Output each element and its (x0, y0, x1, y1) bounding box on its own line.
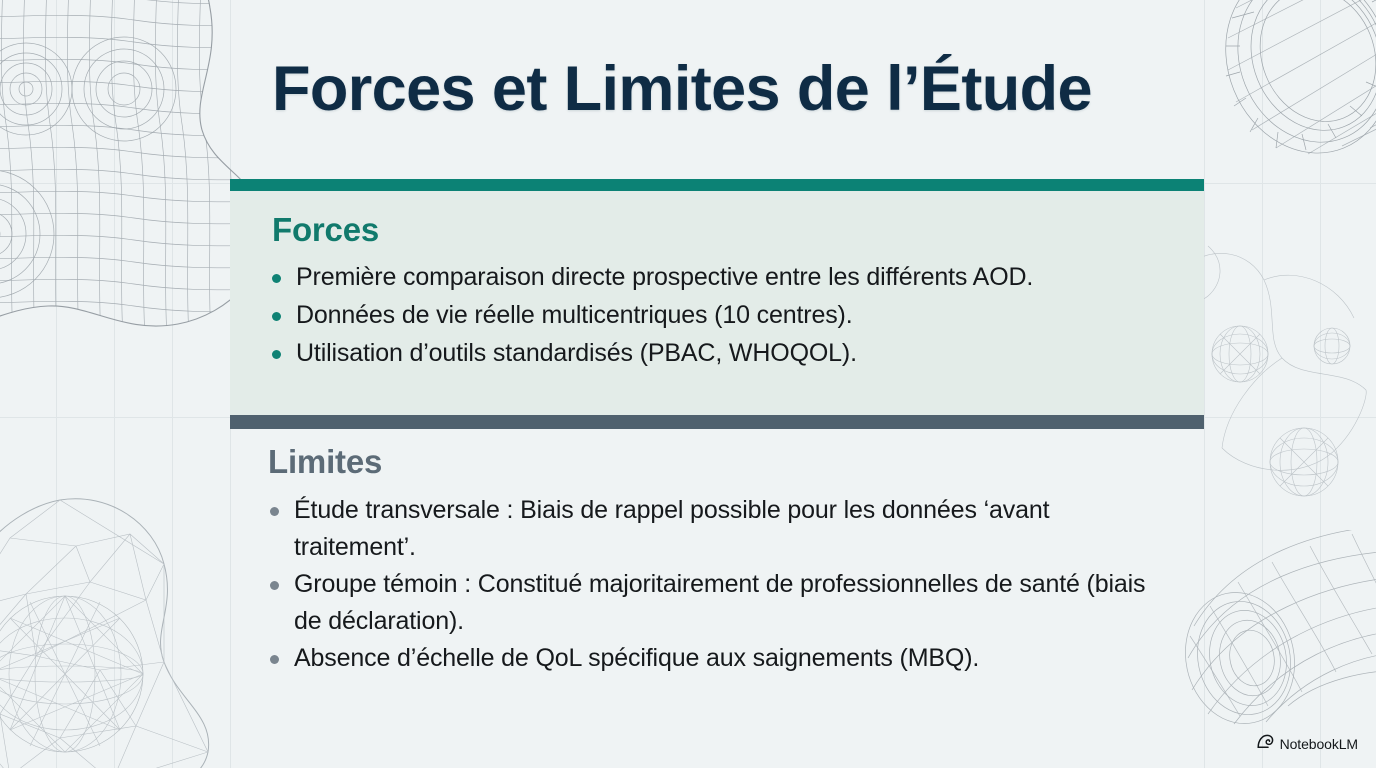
list-item: Données de vie réelle multicentriques (1… (268, 296, 1178, 334)
page-title: Forces et Limites de l’Étude (272, 55, 1092, 123)
wireframe-tube-bottomright-icon (1176, 530, 1376, 768)
forces-bullet-list: Première comparaison directe prospective… (268, 258, 1178, 372)
grid-vline (172, 0, 173, 768)
list-item: Utilisation d’outils standardisés (PBAC,… (268, 334, 1178, 372)
notebooklm-spiral-icon (1257, 734, 1274, 754)
wireframe-mesh-blob-bottomleft-icon (0, 490, 240, 768)
list-item: Groupe témoin : Constitué majoritairemen… (266, 566, 1166, 640)
limites-bullet-list: Étude transversale : Biais de rappel pos… (266, 492, 1166, 677)
grid-vline (114, 0, 115, 768)
limites-accent-bar (230, 415, 1204, 429)
forces-accent-bar (230, 179, 1204, 191)
list-item: Absence d’échelle de QoL spécifique aux … (266, 640, 1166, 677)
list-item: Première comparaison directe prospective… (268, 258, 1178, 296)
wireframe-spheres-midright-icon (1178, 226, 1376, 516)
list-item: Étude transversale : Biais de rappel pos… (266, 492, 1166, 566)
grid-vline (1262, 0, 1263, 768)
limites-heading: Limites (268, 443, 382, 481)
grid-vline (56, 0, 57, 768)
slide-canvas: Forces et Limites de l’Étude Forces Prem… (0, 0, 1376, 768)
grid-vline (1204, 0, 1205, 768)
wireframe-tube-topright-icon (1196, 0, 1376, 200)
notebooklm-logo: NotebookLM (1257, 734, 1358, 754)
forces-heading: Forces (272, 211, 379, 249)
notebooklm-logo-text: NotebookLM (1280, 736, 1358, 752)
grid-vline (1320, 0, 1321, 768)
